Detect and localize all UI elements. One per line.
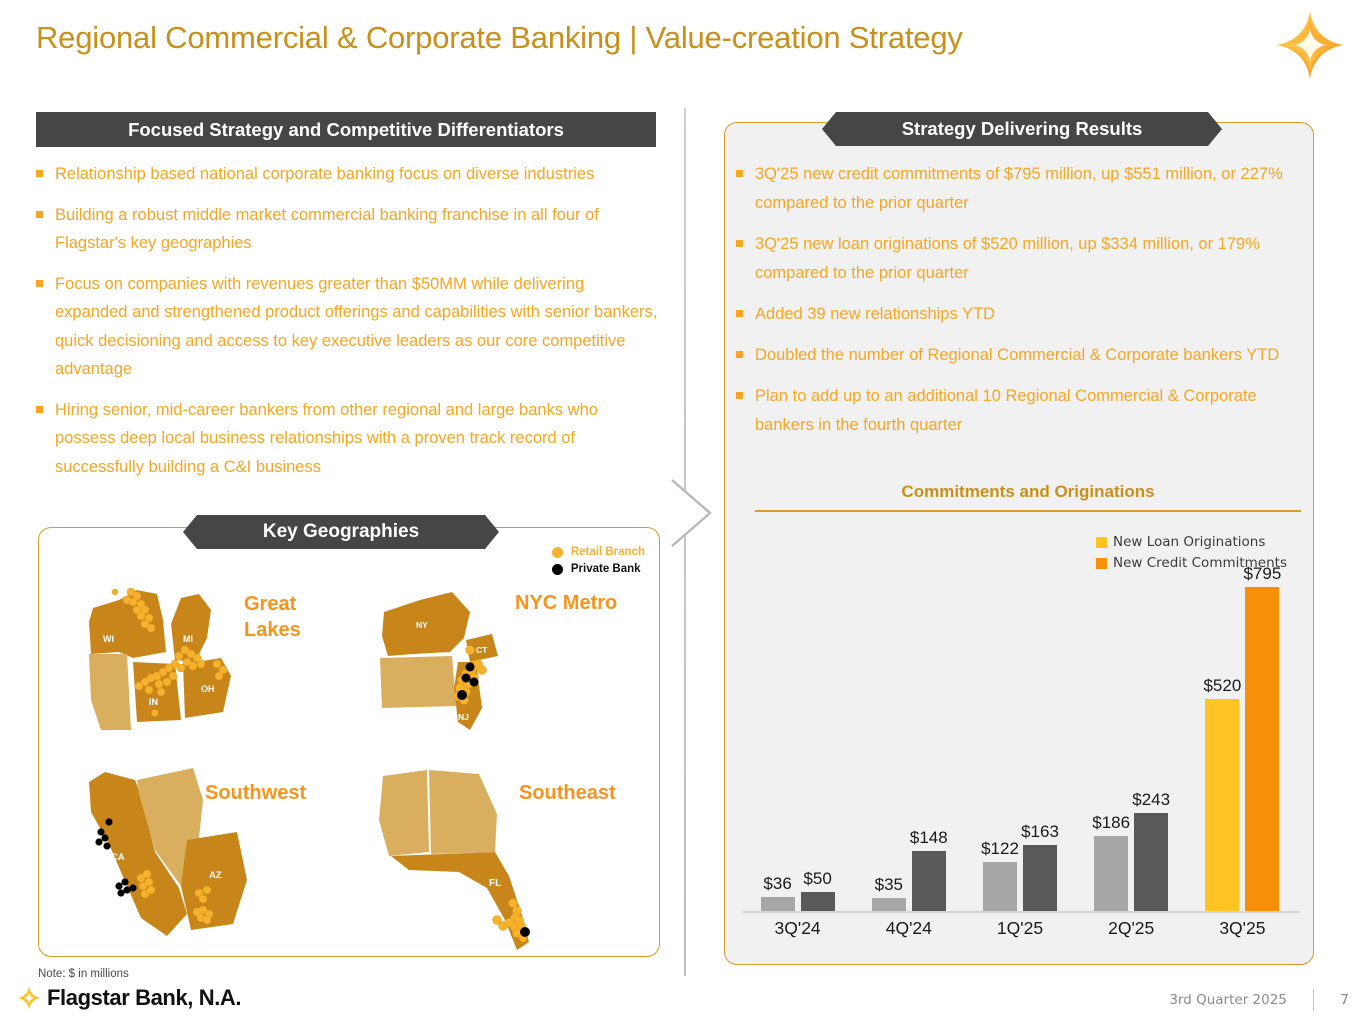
bar-value-label: $35: [861, 875, 917, 895]
legend-label: Retail Branch: [571, 546, 645, 558]
right-panel-banner: Strategy Delivering Results: [822, 112, 1222, 146]
bar-1Q25-originations: [983, 862, 1017, 912]
bullet-square-icon: [36, 280, 43, 287]
bullet-text: Doubled the number of Regional Commercia…: [755, 341, 1279, 370]
bar-3Q24-originations: [761, 897, 795, 912]
category-label-3Q24: 3Q'24: [743, 918, 853, 939]
bullet-text: Hiring senior, mid-career bankers from o…: [55, 396, 661, 482]
left-panel-bullet-list: Relationship based national corporate ba…: [36, 160, 661, 493]
list-item: Focus on companies with revenues greater…: [36, 270, 661, 384]
bar-2Q25-originations: [1094, 836, 1128, 912]
category-label-3Q25: 3Q'25: [1187, 918, 1297, 939]
bullet-text: 3Q'25 new loan originations of $520 mill…: [755, 230, 1302, 288]
list-item: Hiring senior, mid-career bankers from o…: [36, 396, 661, 482]
bar-1Q25-commitments: [1023, 845, 1057, 912]
footer-brand: Flagstar Bank, N.A.: [16, 985, 241, 1011]
bar-value-label: $795: [1234, 564, 1290, 584]
key-geographies-card: Retail Branch Private Bank WI MI IN OH: [38, 527, 660, 957]
legend-label: New Loan Originations: [1113, 534, 1265, 550]
bar-value-label: $520: [1194, 676, 1250, 696]
bullet-square-icon: [36, 170, 43, 177]
flagstar-star-icon: [1273, 8, 1347, 82]
state-label-ct: CT: [476, 645, 488, 655]
region-label-great-lakes: Great Lakes: [244, 591, 354, 643]
bullet-square-icon: [36, 406, 43, 413]
bar-value-label: $148: [901, 828, 957, 848]
footer-separator: [1313, 989, 1315, 1011]
legend-item-retail-branch: Retail Branch: [552, 546, 645, 558]
bar-chart-plot-area: $36$50$35$148$122$163$186$243$520$795: [742, 560, 1298, 912]
list-item: Relationship based national corporate ba…: [36, 160, 661, 189]
chevron-right-icon: [670, 478, 712, 548]
left-panel-banner: Focused Strategy and Competitive Differe…: [36, 112, 656, 147]
map-great-lakes: WI MI IN OH: [71, 580, 271, 750]
bullet-square-icon: [736, 310, 743, 317]
retail-branch-dot-icon: [552, 547, 563, 558]
bullet-square-icon: [736, 240, 743, 247]
category-label-4Q24: 4Q'24: [854, 918, 964, 939]
map-nyc-metro: NY CT NJ: [374, 578, 534, 753]
bullet-square-icon: [736, 170, 743, 177]
bar-4Q24-originations: [872, 898, 906, 912]
state-label-ca: CA: [111, 852, 125, 863]
key-geographies-banner: Key Geographies: [183, 515, 499, 549]
bullet-text: Building a robust middle market commerci…: [55, 201, 661, 258]
bar-value-label: $186: [1083, 813, 1139, 833]
bullet-text: Relationship based national corporate ba…: [55, 160, 594, 189]
chart-title-rule: [755, 510, 1301, 512]
bar-value-label: $163: [1012, 822, 1068, 842]
bar-3Q24-commitments: [801, 892, 835, 912]
bullet-text: Added 39 new relationships YTD: [755, 300, 995, 329]
legend-item-new-loan-originations: New Loan Originations: [1096, 534, 1287, 550]
state-label-nj: NJ: [458, 712, 469, 722]
state-label-mi: MI: [183, 634, 193, 644]
state-label-ny: NY: [416, 620, 428, 630]
bullet-text: Focus on companies with revenues greater…: [55, 270, 661, 384]
region-label-nyc-metro: NYC Metro: [515, 590, 625, 616]
chart-baseline-axis: [742, 911, 1300, 913]
list-item: 3Q'25 new loan originations of $520 mill…: [736, 230, 1302, 288]
right-panel-bullet-list: 3Q'25 new credit commitments of $795 mil…: [736, 160, 1302, 452]
footer-brand-text: Flagstar Bank, N.A.: [47, 985, 241, 1011]
bullet-text: Plan to add up to an additional 10 Regio…: [755, 382, 1302, 440]
bullet-square-icon: [736, 351, 743, 358]
region-label-southeast: Southeast: [519, 780, 679, 806]
footer-meta: 3rd Quarter 2025 7: [1169, 989, 1349, 1011]
chart-note: Note: $ in millions: [38, 968, 129, 980]
list-item: Doubled the number of Regional Commercia…: [736, 341, 1302, 370]
bullet-text: 3Q'25 new credit commitments of $795 mil…: [755, 160, 1302, 218]
list-item: 3Q'25 new credit commitments of $795 mil…: [736, 160, 1302, 218]
bar-4Q24-commitments: [912, 851, 946, 912]
bar-value-label: $243: [1123, 790, 1179, 810]
page-number: 7: [1340, 992, 1349, 1008]
category-label-2Q25: 2Q'25: [1076, 918, 1186, 939]
state-label-oh: OH: [201, 684, 215, 694]
legend-label: Private Bank: [571, 563, 641, 575]
list-item: Building a robust middle market commerci…: [36, 201, 661, 258]
list-item: Added 39 new relationships YTD: [736, 300, 1302, 329]
flagstar-star-icon: [16, 985, 42, 1011]
footer-quarter: 3rd Quarter 2025: [1169, 992, 1287, 1008]
category-label-1Q25: 1Q'25: [965, 918, 1075, 939]
bar-2Q25-commitments: [1134, 813, 1168, 912]
bar-3Q25-commitments: [1245, 587, 1279, 912]
bar-3Q25-originations: [1205, 699, 1239, 912]
bullet-square-icon: [736, 392, 743, 399]
chart-title: Commitments and Originations: [755, 482, 1301, 502]
legend-item-private-bank: Private Bank: [552, 563, 645, 575]
state-label-az: AZ: [209, 870, 222, 881]
bar-value-label: $50: [790, 869, 846, 889]
map-legend: Retail Branch Private Bank: [552, 546, 645, 580]
state-label-fl: FL: [489, 878, 501, 889]
region-label-southwest: Southwest: [205, 780, 365, 806]
legend-swatch-originations: [1096, 537, 1107, 548]
private-bank-dot-icon: [552, 564, 563, 575]
state-label-in: IN: [149, 697, 158, 707]
list-item: Plan to add up to an additional 10 Regio…: [736, 382, 1302, 440]
page-title: Regional Commercial & Corporate Banking …: [36, 20, 963, 56]
state-label-wi: WI: [103, 634, 114, 644]
bullet-square-icon: [36, 211, 43, 218]
